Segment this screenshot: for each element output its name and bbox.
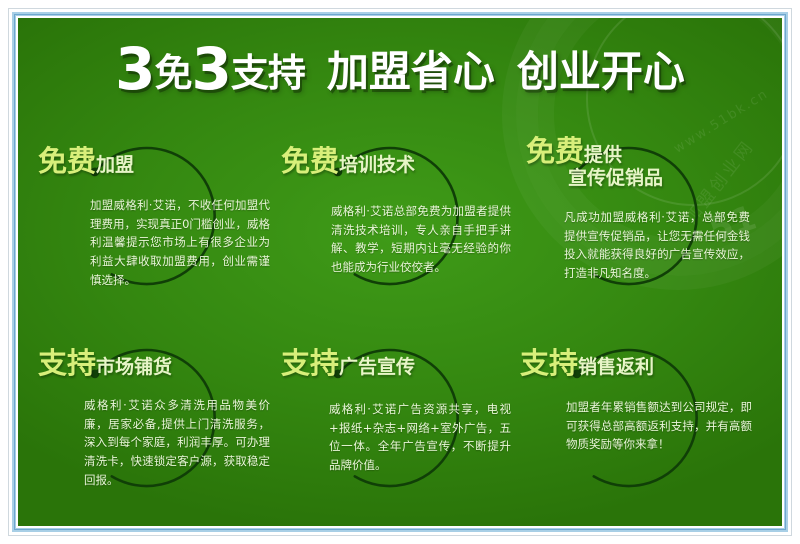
benefit-keyword: 免费 — [526, 134, 584, 168]
benefit-cell-free-join: 免费加盟 加盟威格利·艾诺，不收任何加盟代理费用，实现真正0门槛创业，威格利温馨… — [28, 120, 278, 322]
benefit-keyword: 支持 — [520, 346, 578, 380]
title-word-1: 免 — [154, 51, 191, 95]
benefit-body-text: 加盟者年累销售额达到公司规定，即可获得总部高额返利支持，并有高额物质奖励等你来拿… — [566, 398, 752, 454]
benefit-heading: 支持广告宣传 — [281, 348, 415, 379]
benefit-subheading: 广告宣传 — [339, 356, 415, 378]
benefit-body-text: 凡成功加盟威格利·艾诺，总部免费提供宣传促销品，让您无需任何金钱投入就能获得良好… — [564, 208, 750, 283]
title-phrase-1: 加盟省心 — [327, 47, 495, 96]
benefit-heading: 支持市场铺货 — [38, 348, 172, 379]
poster-green-stage: www.51bk.cn 加盟创业网 51 3免3支持加盟省心创业开心 免费加盟 … — [18, 18, 782, 526]
title-number-1: 3 — [115, 35, 154, 103]
title-phrase-2: 创业开心 — [517, 47, 685, 96]
promotional-poster: www.51bk.cn 加盟创业网 51 3免3支持加盟省心创业开心 免费加盟 … — [0, 0, 800, 544]
benefit-cell-support-stocking: 支持市场铺货 威格利·艾诺众多清洗用品物美价廉，居家必备,提供上门清洗服务，深入… — [28, 322, 278, 524]
benefit-keyword: 免费 — [281, 144, 339, 178]
benefit-body-text: 威格利·艾诺总部免费为加盟者提供清洗技术培训，专人亲自手把手讲解、教学，短期内让… — [331, 202, 511, 277]
poster-title: 3免3支持加盟省心创业开心 — [18, 40, 782, 98]
benefit-cell-support-advertising: 支持广告宣传 威格利·艾诺广告资源共享，电视+报纸+杂志+网络+室外广告，五位一… — [271, 322, 521, 524]
benefit-keyword: 支持 — [38, 346, 96, 380]
benefit-body-text: 威格利·艾诺众多清洗用品物美价廉，居家必备,提供上门清洗服务，深入到每个家庭，利… — [84, 396, 270, 489]
benefit-subheading: 市场铺货 — [96, 356, 172, 378]
benefit-subheading: 销售返利 — [578, 356, 654, 378]
benefit-subheading: 加盟 — [96, 154, 134, 176]
benefit-heading: 免费培训技术 — [281, 146, 415, 177]
benefit-subheading: 培训技术 — [339, 154, 415, 176]
title-number-2: 3 — [191, 35, 230, 103]
benefit-cell-free-promo-materials: 免费提供 宣传促销品 凡成功加盟威格利·艾诺，总部免费提供宣传促销品，让您无需任… — [510, 120, 760, 322]
benefit-body-text: 威格利·艾诺广告资源共享，电视+报纸+杂志+网络+室外广告，五位一体。全年广告宣… — [329, 400, 511, 475]
benefit-body-text: 加盟威格利·艾诺，不收任何加盟代理费用，实现真正0门槛创业，威格利温馨提示您市场… — [90, 196, 270, 289]
benefit-cell-support-sales-rebate: 支持销售返利 加盟者年累销售额达到公司规定，即可获得总部高额返利支持，并有高额物… — [510, 322, 760, 524]
benefits-grid: 免费加盟 加盟威格利·艾诺，不收任何加盟代理费用，实现真正0门槛创业，威格利温馨… — [18, 114, 782, 526]
benefit-heading: 免费提供 宣传促销品 — [526, 136, 663, 189]
benefit-keyword: 免费 — [38, 144, 96, 178]
benefit-subheading: 提供 — [584, 144, 622, 166]
title-word-2: 支持 — [231, 51, 305, 95]
benefit-keyword: 支持 — [281, 346, 339, 380]
benefit-heading: 支持销售返利 — [520, 348, 654, 379]
benefit-heading: 免费加盟 — [38, 146, 134, 177]
benefit-cell-free-training: 免费培训技术 威格利·艾诺总部免费为加盟者提供清洗技术培训，专人亲自手把手讲解、… — [271, 120, 521, 322]
benefit-subheading-line2: 宣传促销品 — [568, 168, 663, 189]
